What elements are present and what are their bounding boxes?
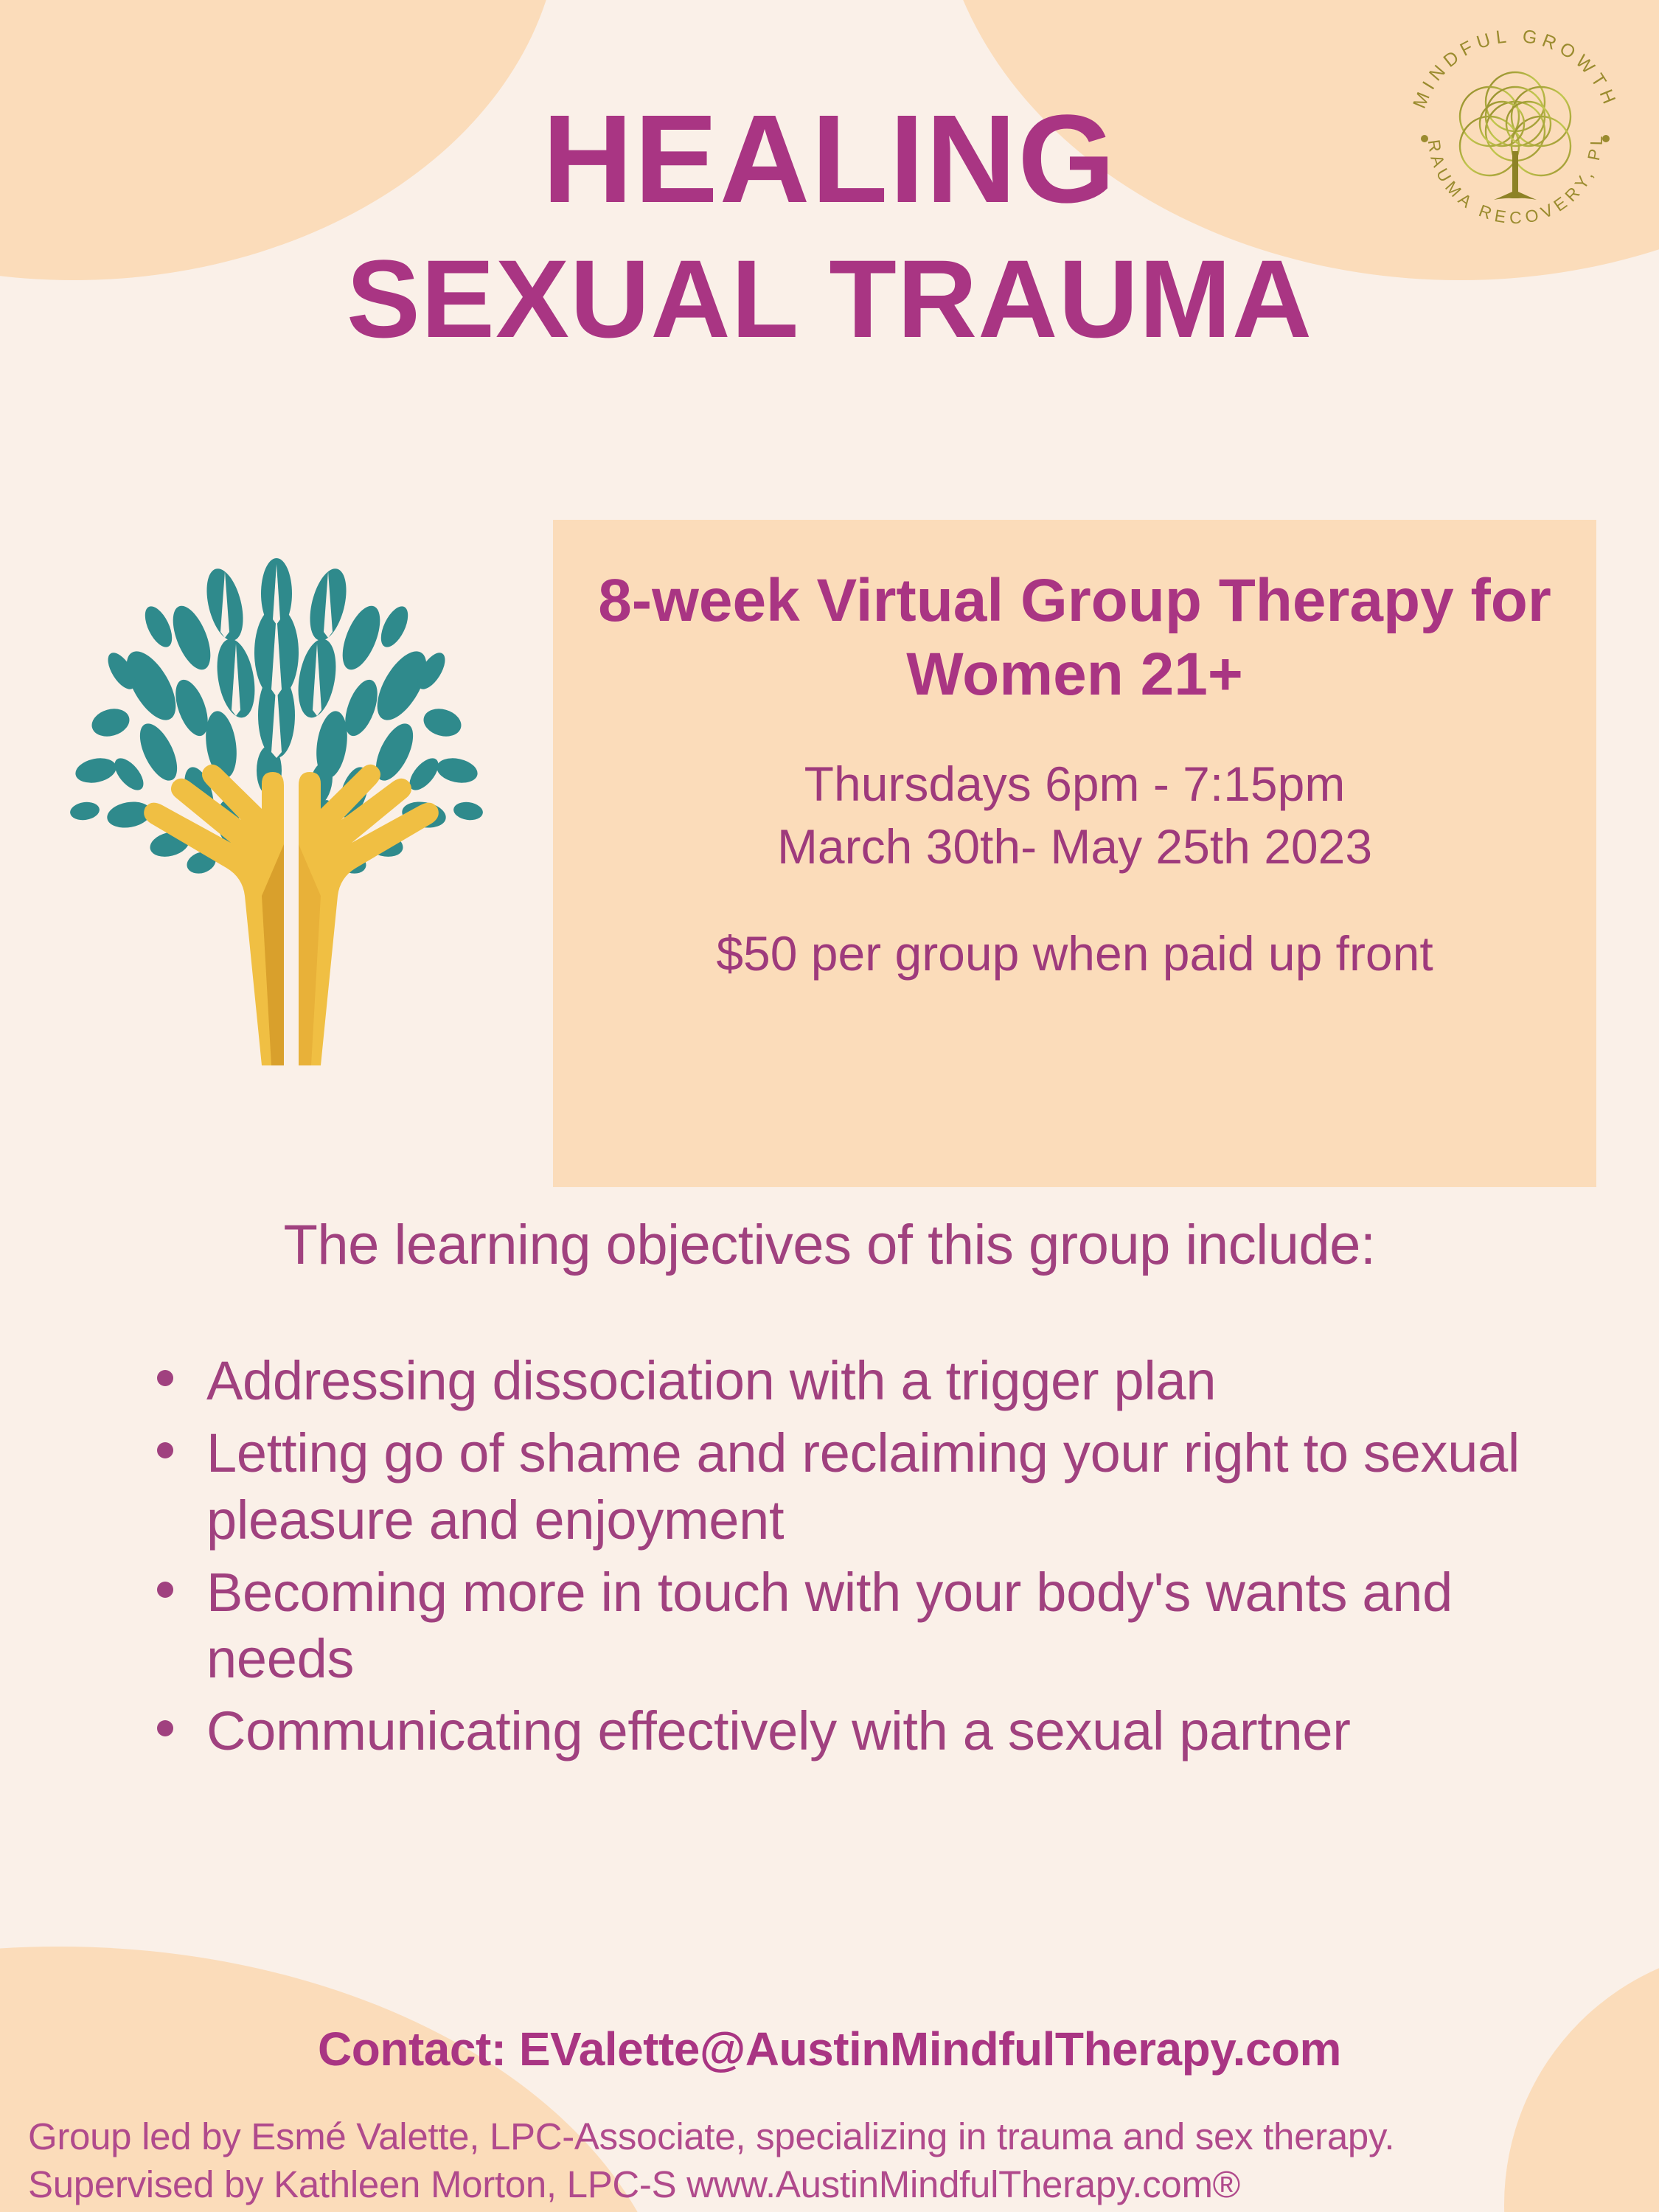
objective-text: Communicating effectively with a sexual … (206, 1700, 1351, 1761)
footer-line-2: Supervised by Kathleen Morton, LPC-S www… (28, 2160, 1635, 2208)
price-line: $50 per group when paid up front (582, 925, 1567, 983)
list-item: Addressing dissociation with a trigger p… (144, 1348, 1574, 1414)
schedule-time: Thursdays 6pm - 7:15pm (582, 753, 1567, 815)
schedule-dates: March 30th- May 25th 2023 (582, 815, 1567, 877)
list-item: Letting go of shame and reclaiming your … (144, 1420, 1574, 1554)
schedule-group: Thursdays 6pm - 7:15pm March 30th- May 2… (582, 753, 1567, 877)
footer: Group led by Esmé Valette, LPC-Associate… (28, 2112, 1635, 2209)
objectives-list: Addressing dissociation with a trigger p… (144, 1348, 1574, 1771)
title-line-1: HEALING (0, 96, 1659, 223)
bullet-icon (157, 1370, 173, 1386)
objectives-heading: The learning objectives of this group in… (0, 1213, 1659, 1277)
list-item: Becoming more in touch with your body's … (144, 1559, 1574, 1693)
details-heading: 8-week Virtual Group Therapy for Women 2… (582, 564, 1567, 712)
footer-line-1: Group led by Esmé Valette, LPC-Associate… (28, 2112, 1635, 2160)
details-panel: 8-week Virtual Group Therapy for Women 2… (553, 520, 1596, 1187)
bullet-icon (157, 1582, 173, 1598)
hands-icon (144, 765, 439, 1065)
poster-canvas: MINDFUL GROWTH & TRAUMA RECOVERY, PLLC (0, 0, 1659, 2212)
list-item: Communicating effectively with a sexual … (144, 1698, 1574, 1764)
contact-email-line[interactable]: Contact: EValette@AustinMindfulTherapy.c… (0, 2022, 1659, 2076)
objective-text: Addressing dissociation with a trigger p… (206, 1350, 1216, 1411)
page-title: HEALING SEXUAL TRAUMA (0, 96, 1659, 358)
objective-text: Becoming more in touch with your body's … (206, 1562, 1453, 1689)
objective-text: Letting go of shame and reclaiming your … (206, 1422, 1520, 1550)
bullet-icon (157, 1442, 173, 1458)
title-line-2: SEXUAL TRAUMA (0, 241, 1659, 358)
hands-tree-illustration (41, 549, 512, 1095)
bullet-icon (157, 1720, 173, 1736)
